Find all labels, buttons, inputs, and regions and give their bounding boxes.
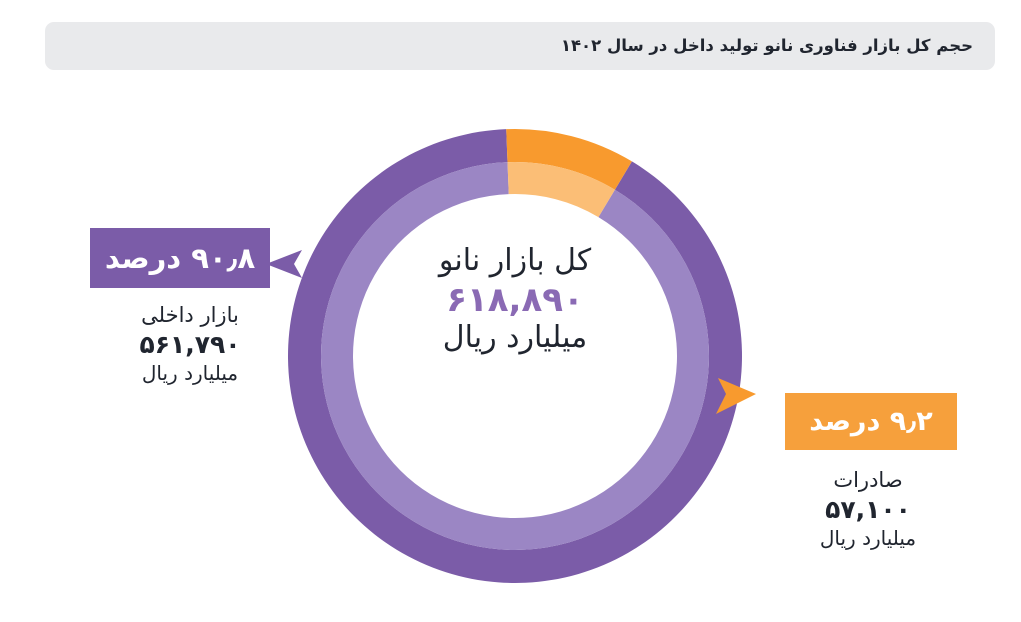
info-export: صادرات ۵۷,۱۰۰ میلیارد ریال xyxy=(778,468,958,550)
segment-domestic-inner xyxy=(321,162,709,550)
segment-domestic-outer xyxy=(288,129,742,583)
info-domestic-value: ۵۶۱,۷۹۰ xyxy=(100,330,280,360)
info-domestic-name: بازار داخلی xyxy=(100,303,280,328)
donut-chart: کل بازار نانو ۶۱۸,۸۹۰ میلیارد ریال ۹۰٫۸ … xyxy=(0,78,1021,622)
info-export-value: ۵۷,۱۰۰ xyxy=(778,495,958,525)
info-export-unit: میلیارد ریال xyxy=(778,526,958,550)
info-domestic: بازار داخلی ۵۶۱,۷۹۰ میلیارد ریال xyxy=(100,303,280,385)
page-title-bar: حجم کل بازار فناوری نانو تولید داخل در س… xyxy=(45,22,995,70)
badge-domestic-percent[interactable]: ۹۰٫۸ درصد xyxy=(90,228,270,288)
badge-export-percent[interactable]: ۹٫۲ درصد xyxy=(785,393,957,450)
badge-export-percent-text: ۹٫۲ درصد xyxy=(809,406,933,437)
page-title: حجم کل بازار فناوری نانو تولید داخل در س… xyxy=(561,38,973,55)
badge-domestic-percent-text: ۹۰٫۸ درصد xyxy=(105,241,255,275)
info-domestic-unit: میلیارد ریال xyxy=(100,361,280,385)
info-export-name: صادرات xyxy=(778,468,958,493)
callout-pointer-domestic xyxy=(266,250,302,278)
